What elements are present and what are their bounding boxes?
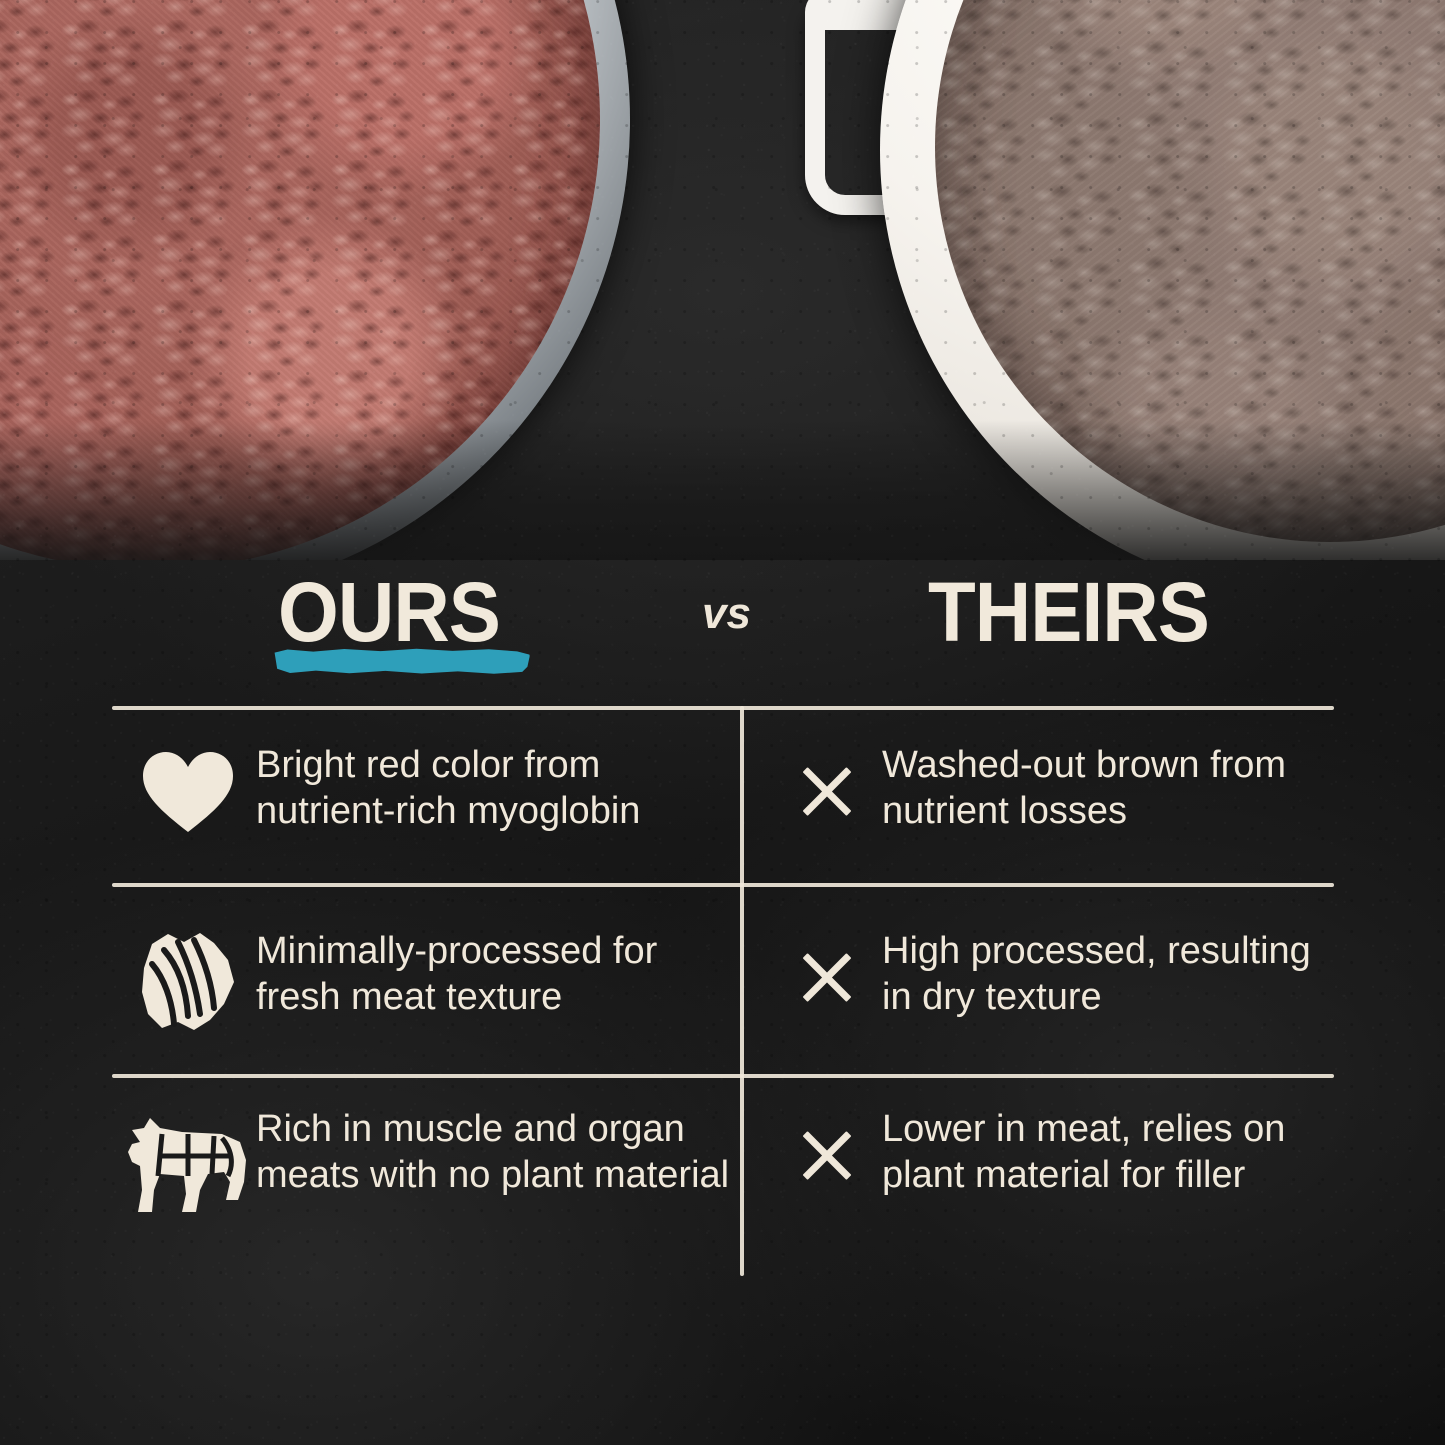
row-text-ours: Minimally-processed for fresh meat textu… xyxy=(256,928,732,1020)
table-row: Minimally-processed for fresh meat textu… xyxy=(120,928,732,1034)
photo-fade-overlay xyxy=(0,420,1445,560)
row-text-ours: Bright red color from nutrient-rich myog… xyxy=(256,742,732,834)
x-mark-icon xyxy=(772,928,882,1008)
table-row: High processed, resulting in dry texture xyxy=(772,928,1332,1020)
comparison-graphic: OURS vs THEIRS Bright red color from nut… xyxy=(0,0,1445,1445)
product-photo-banner xyxy=(0,0,1445,560)
heading-theirs: THEIRS xyxy=(928,570,1209,654)
heading-vs: vs xyxy=(702,592,751,636)
table-row: Washed-out brown from nutrient losses xyxy=(772,742,1332,834)
table-rule-middle-1 xyxy=(112,883,1334,887)
table-row: Lower in meat, relies on plant material … xyxy=(772,1106,1332,1198)
heading-ours: OURS xyxy=(278,570,500,654)
row-text-ours: Rich in muscle and organ meats with no p… xyxy=(256,1106,732,1198)
row-text-theirs: Lower in meat, relies on plant material … xyxy=(882,1106,1332,1198)
table-divider-vertical xyxy=(740,706,744,1276)
table-row: Bright red color from nutrient-rich myog… xyxy=(120,742,732,834)
x-mark-icon xyxy=(772,742,882,822)
x-mark-icon xyxy=(772,1106,882,1186)
table-rule-top xyxy=(112,706,1334,710)
table-row: Rich in muscle and organ meats with no p… xyxy=(120,1106,732,1222)
row-text-theirs: High processed, resulting in dry texture xyxy=(882,928,1332,1020)
table-rule-middle-2 xyxy=(112,1074,1334,1078)
cow-cuts-icon xyxy=(120,1106,256,1222)
comparison-table: Bright red color from nutrient-rich myog… xyxy=(112,706,1334,1276)
headings-row: OURS vs THEIRS xyxy=(0,570,1445,690)
muscle-fiber-icon xyxy=(120,928,256,1034)
row-text-theirs: Washed-out brown from nutrient losses xyxy=(882,742,1332,834)
heart-icon xyxy=(120,742,256,834)
